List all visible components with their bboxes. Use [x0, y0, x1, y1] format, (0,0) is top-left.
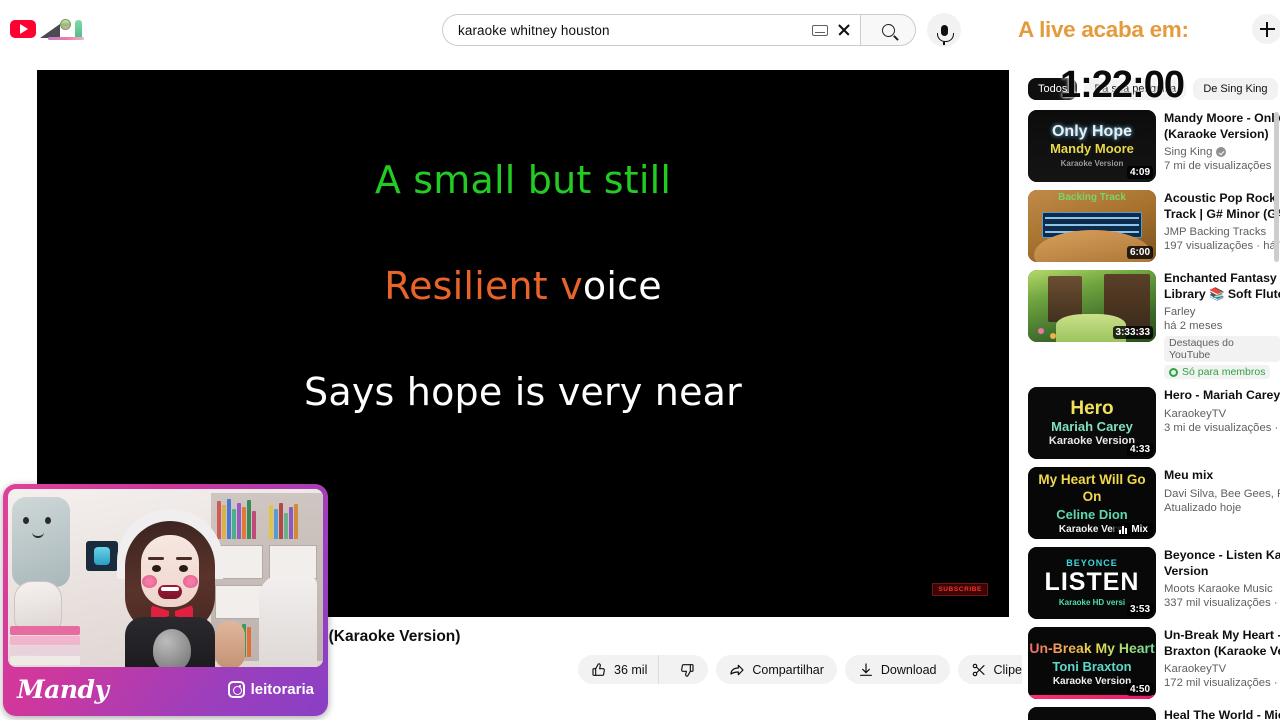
share-arrow-icon	[729, 662, 745, 678]
thumb-line-2: Mariah Carey	[1051, 419, 1133, 434]
thumb-line-3: Karaoke Version	[1053, 676, 1131, 687]
video-duration: 6:00	[1127, 246, 1153, 259]
channel-name: Davi Silva, Bee Gees, Radioh	[1164, 487, 1280, 501]
thumb-line-2: LISTEN	[1045, 569, 1140, 595]
channel-row[interactable]: Farley	[1164, 305, 1280, 319]
thumb-line-2: Mandy Moore	[1050, 141, 1134, 156]
chip-de-sing-king[interactable]: De Sing King	[1193, 78, 1277, 100]
video-title-line-2: (Karaoke Version)	[1164, 127, 1280, 143]
plus-icon[interactable]	[1252, 14, 1280, 44]
dislike-button[interactable]	[666, 655, 708, 684]
list-item[interactable]: BEYONCE LISTEN Karaoke HD versi 3:53 Bey…	[1022, 547, 1280, 627]
youtube-play-icon	[10, 20, 36, 38]
video-title-line-1: Acoustic Pop Rock Back	[1164, 191, 1280, 207]
scrollbar-thumb[interactable]	[1274, 112, 1279, 262]
video-actions: 36 mil Compartilhar Download C	[578, 655, 1072, 684]
lyric-line-2-unsung: oice	[583, 264, 662, 308]
lyric-line-1: A small but still	[37, 158, 1009, 202]
thumb-line-2: Toni Braxton	[1052, 659, 1131, 674]
share-label: Compartilhar	[752, 663, 824, 677]
channel-row[interactable]: Moots Karaoke Music	[1164, 582, 1280, 596]
webcam-feed	[8, 489, 323, 667]
list-item[interactable]: 3:33:33 Enchanted Fantasy Mag Library 📚 …	[1022, 270, 1280, 387]
webcam-overlay: Mandy leitoraria	[3, 484, 328, 716]
video-meta: Atualizado hoje	[1164, 501, 1280, 515]
thumb-line-2: Celine Dion	[1056, 507, 1128, 522]
voice-search-button[interactable]	[927, 13, 961, 47]
video-title-line-1: Enchanted Fantasy Mag	[1164, 271, 1280, 287]
thumb-line-1: Backing Track	[1028, 192, 1156, 203]
channel-name: Farley	[1164, 305, 1195, 319]
download-icon	[858, 662, 874, 678]
video-duration: 4:50	[1127, 683, 1153, 696]
video-duration: 3:33:33	[1113, 326, 1153, 339]
channel-name: KaraokeyTV	[1164, 662, 1226, 676]
video-thumbnail[interactable]: BEYONCE LISTEN Karaoke HD versi 3:53	[1028, 547, 1156, 619]
lyric-line-2: Resilient voice	[37, 264, 1009, 308]
like-count: 36 mil	[614, 663, 647, 677]
like-dislike-group: 36 mil	[578, 655, 708, 684]
video-thumbnail[interactable]: 3:33:33	[1028, 270, 1156, 342]
thumb-line-1: Only Hope	[1052, 123, 1132, 140]
search-query-text: karaoke whitney houston	[458, 23, 804, 38]
video-thumbnail[interactable]: My Heart Will Go On Celine Dion Karaoke …	[1028, 467, 1156, 539]
list-item[interactable]: Only Hope Mandy Moore Karaoke Version 4:…	[1022, 110, 1280, 190]
mix-badge-label: Mix	[1131, 524, 1148, 535]
video-thumbnail[interactable]: Only Hope Mandy Moore Karaoke Version 4:…	[1028, 110, 1156, 182]
video-title-line-1: Beyonce - Listen Karaok	[1164, 548, 1280, 564]
video-duration: 4:09	[1127, 166, 1153, 179]
badge-members-label: Só para membros	[1182, 366, 1265, 378]
mix-bars-icon	[1119, 525, 1127, 534]
video-duration: 4:33	[1127, 443, 1153, 456]
video-thumbnail[interactable]: Backing Track 6:00	[1028, 190, 1156, 262]
channel-name: Sing King	[1164, 145, 1212, 159]
mix-badge: Mix	[1114, 523, 1153, 536]
channel-row[interactable]: JMP Backing Tracks	[1164, 225, 1280, 239]
like-button[interactable]: 36 mil	[578, 655, 659, 684]
video-title-line-2: Track | G# Minor (G#m)	[1164, 207, 1280, 223]
webcam-nameplate: Mandy leitoraria	[3, 667, 328, 716]
thumb-line-1: My Heart Will Go On	[1028, 471, 1156, 505]
thumb-line-1: Un-Break My Heart	[1029, 640, 1154, 657]
instagram-handle: leitoraria	[228, 681, 314, 698]
list-item[interactable]: Hero Mariah Carey Karaoke Version 4:33 H…	[1022, 387, 1280, 467]
streamer-person	[111, 511, 229, 667]
video-meta: 7 mi de visualizações · há 5	[1164, 159, 1280, 173]
live-countdown-label: A live acaba em:	[1018, 17, 1189, 43]
list-item[interactable]: Backing Track 6:00 Acoustic Pop Rock Bac…	[1022, 190, 1280, 270]
thumb-line-3: Karaoke Version	[1049, 436, 1135, 447]
share-button[interactable]: Compartilhar	[716, 655, 837, 684]
video-title-line-2: Library 📚 Soft Flute For	[1164, 287, 1280, 303]
video-title-line-1: Un-Break My Heart - Ton	[1164, 628, 1280, 644]
video-title-line-1: Hero - Mariah Carey ( Ka	[1164, 388, 1280, 404]
microphone-icon	[941, 25, 948, 36]
badge-members-only: Só para membros	[1164, 365, 1270, 379]
search-button[interactable]	[860, 14, 916, 46]
related-videos-sidebar[interactable]: Todos Da sua pesquisa De Sing King Only …	[1022, 72, 1280, 720]
channel-name: Moots Karaoke Music	[1164, 582, 1273, 596]
channel-row[interactable]: Sing King	[1164, 145, 1280, 159]
search-area: karaoke whitney houston	[442, 13, 961, 47]
channel-row[interactable]: KaraokeyTV	[1164, 662, 1280, 676]
clip-label: Clipe	[994, 663, 1023, 677]
search-icon	[882, 24, 895, 37]
video-meta: há 2 meses	[1164, 319, 1280, 333]
channel-name: JMP Backing Tracks	[1164, 225, 1266, 239]
list-item[interactable]: Un-Break My Heart Toni Braxton Karaoke V…	[1022, 627, 1280, 707]
thumbs-down-icon	[679, 662, 695, 678]
instagram-icon	[228, 681, 245, 698]
video-meta: 3 mi de visualizações · há 1	[1164, 421, 1280, 435]
badge-youtube-highlights: Destaques do YouTube	[1164, 336, 1280, 362]
thumb-line-1: Hero	[1070, 400, 1113, 417]
sidebar-scrollbar[interactable]	[1273, 72, 1280, 720]
download-label: Download	[881, 663, 937, 677]
thumbs-up-icon	[591, 662, 607, 678]
chair	[259, 575, 317, 667]
subscribe-watermark[interactable]: SUBSCRIBE	[932, 583, 988, 596]
video-title-line-2: Version	[1164, 564, 1280, 580]
youtube-logo[interactable]	[10, 18, 86, 40]
streamer-name: Mandy	[17, 675, 109, 704]
instagram-handle-text: leitoraria	[251, 681, 314, 698]
live-countdown-banner: A live acaba em:	[1018, 12, 1280, 48]
thumb-line-3: Karaoke HD versi	[1059, 597, 1125, 608]
members-ring-icon	[1169, 368, 1178, 377]
book-stack	[10, 619, 80, 665]
video-duration: 3:53	[1127, 603, 1153, 616]
video-thumbnail[interactable]: Hero Mariah Carey Karaoke Version 4:33	[1028, 387, 1156, 459]
lyric-line-3: Says hope is very near	[37, 370, 1009, 414]
list-item[interactable]: Heal The World Heal The World - Michae J…	[1022, 707, 1280, 720]
plush-toy	[12, 497, 70, 587]
video-meta: 197 visualizações · há 7 dias	[1164, 239, 1280, 253]
scissors-icon	[971, 662, 987, 678]
keyboard-icon[interactable]	[812, 25, 828, 36]
video-title-line-2: Braxton (Karaoke Versio	[1164, 644, 1280, 660]
channel-name: KaraokeyTV	[1164, 407, 1226, 421]
studio-microphone	[153, 629, 191, 667]
video-meta: 172 mil visualizações · há 3	[1164, 676, 1280, 690]
channel-row[interactable]: KaraokeyTV	[1164, 407, 1280, 421]
video-thumbnail[interactable]: Un-Break My Heart Toni Braxton Karaoke V…	[1028, 627, 1156, 699]
lyric-line-2-sung: Resilient v	[384, 264, 583, 308]
video-title-line-1: Heal The World - Michae	[1164, 708, 1280, 720]
close-icon[interactable]	[836, 22, 852, 38]
list-item[interactable]: My Heart Will Go On Celine Dion Karaoke …	[1022, 467, 1280, 547]
channel-art-icon	[40, 18, 86, 40]
video-title-line-1: Meu mix	[1164, 468, 1280, 484]
live-countdown-timer: 1:22:00	[1060, 64, 1184, 107]
thumb-line-3: Karaoke Version	[1061, 158, 1124, 169]
download-button[interactable]: Download	[845, 655, 950, 684]
channel-row[interactable]: Davi Silva, Bee Gees, Radioh	[1164, 487, 1280, 501]
verified-icon	[1216, 147, 1226, 157]
video-meta: 337 mil visualizações · há 3	[1164, 596, 1280, 610]
video-title-line-1: Mandy Moore - Only Hop	[1164, 111, 1280, 127]
youtube-watch-page: karaoke whitney houston A live acaba em:…	[0, 0, 1280, 720]
search-input[interactable]: karaoke whitney houston	[442, 14, 860, 46]
video-thumbnail[interactable]: Heal The World	[1028, 707, 1156, 720]
